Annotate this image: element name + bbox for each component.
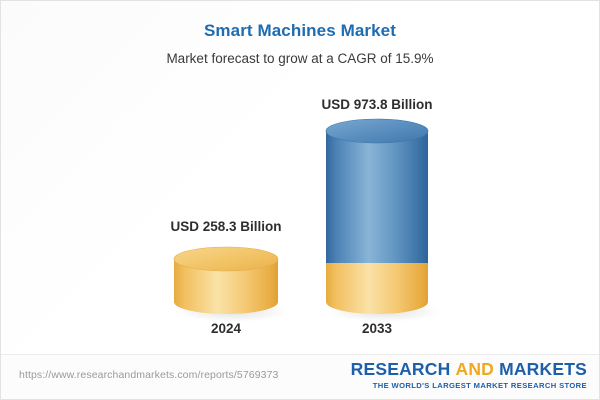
bar-2033 <box>323 119 447 323</box>
logo-tagline: THE WORLD'S LARGEST MARKET RESEARCH STOR… <box>351 382 587 390</box>
chart-card: Smart Machines Market Market forecast to… <box>0 0 600 400</box>
bar-2024 <box>171 247 295 323</box>
chart-plot-area: USD 258.3 Billion USD 973.8 Billion 2024… <box>1 1 600 356</box>
bar-2024-top <box>174 247 278 271</box>
logo-wordmark: RESEARCH AND MARKETS <box>351 361 587 379</box>
bar-2033-growth-segment <box>326 131 428 263</box>
value-label-2033: USD 973.8 Billion <box>267 97 487 112</box>
chart-footer: https://www.researchandmarkets.com/repor… <box>1 354 600 399</box>
logo-word-research: RESEARCH <box>351 359 451 379</box>
value-label-2024: USD 258.3 Billion <box>116 219 336 234</box>
cylinder-bars-svg <box>1 1 600 356</box>
source-url[interactable]: https://www.researchandmarkets.com/repor… <box>19 369 278 381</box>
logo-word-and: AND <box>455 359 494 379</box>
bar-2033-base-segment <box>326 263 428 314</box>
research-and-markets-logo[interactable]: RESEARCH AND MARKETS THE WORLD'S LARGEST… <box>351 361 587 389</box>
bar-2033-top <box>326 119 428 143</box>
logo-word-markets: MARKETS <box>499 359 587 379</box>
category-label-2033: 2033 <box>267 321 487 336</box>
